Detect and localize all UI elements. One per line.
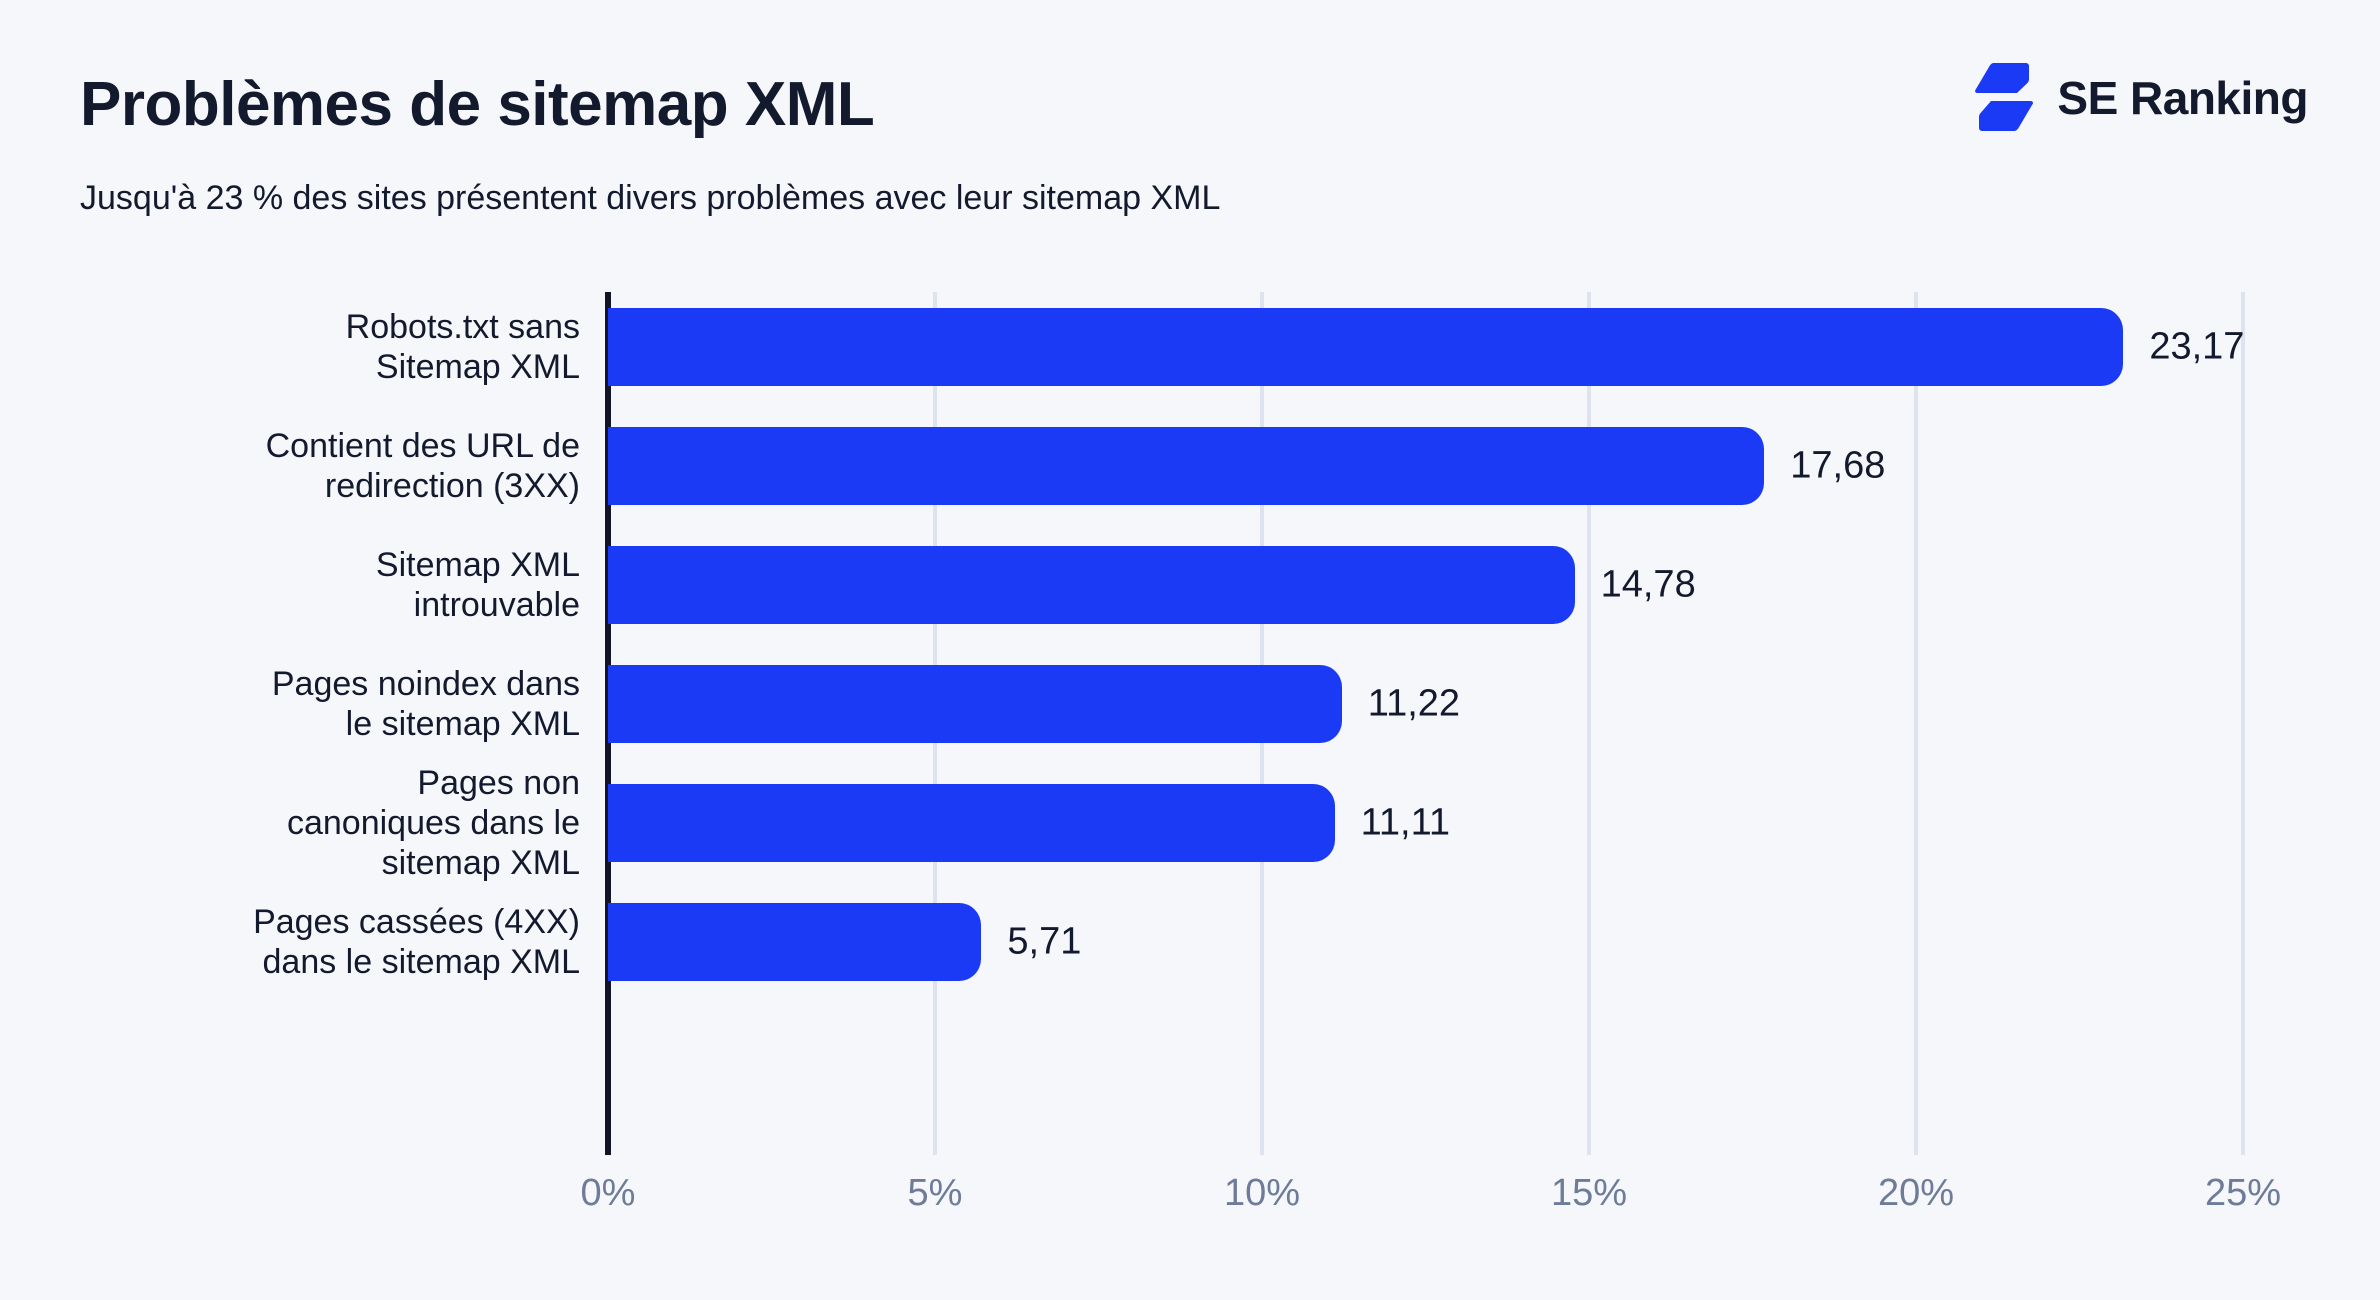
bar-value-label: 23,17 bbox=[2149, 326, 2244, 369]
x-tick-label: 10% bbox=[1224, 1172, 1300, 1215]
bar-row: 23,17 bbox=[608, 308, 2243, 386]
y-axis-category-label: Contient des URL de redirection (3XX) bbox=[20, 426, 580, 506]
x-axis-ticks: 0%5%10%15%20%25% bbox=[608, 1172, 2308, 1232]
y-axis-labels: Robots.txt sans Sitemap XMLContient des … bbox=[0, 292, 580, 1155]
bar-row: 17,68 bbox=[608, 427, 2243, 505]
bar[interactable] bbox=[608, 546, 1575, 624]
bar-value-label: 11,11 bbox=[1361, 802, 1450, 845]
x-tick-label: 20% bbox=[1878, 1172, 1954, 1215]
bar-row: 14,78 bbox=[608, 546, 2243, 624]
bar[interactable] bbox=[608, 665, 1342, 743]
bar-chart: Robots.txt sans Sitemap XMLContient des … bbox=[0, 0, 2380, 1300]
x-tick-label: 5% bbox=[908, 1172, 963, 1215]
bar-series: 23,1717,6814,7811,2211,115,71 bbox=[608, 292, 2243, 1155]
y-axis-category-label: Sitemap XML introuvable bbox=[20, 545, 580, 625]
x-tick-label: 25% bbox=[2205, 1172, 2281, 1215]
chart-page: Problèmes de sitemap XML Jusqu'à 23 % de… bbox=[0, 0, 2380, 1300]
y-axis-category-label: Pages cassées (4XX) dans le sitemap XML bbox=[20, 902, 580, 982]
y-axis-category-label: Pages non canoniques dans le sitemap XML bbox=[20, 763, 580, 883]
y-axis-category-label: Robots.txt sans Sitemap XML bbox=[20, 307, 580, 387]
bar-row: 11,11 bbox=[608, 784, 2243, 862]
bar[interactable] bbox=[608, 903, 981, 981]
bar[interactable] bbox=[608, 308, 2123, 386]
bar-value-label: 5,71 bbox=[1007, 921, 1081, 964]
bar-value-label: 14,78 bbox=[1601, 564, 1696, 607]
bar-value-label: 11,22 bbox=[1368, 683, 1460, 726]
x-tick-label: 15% bbox=[1551, 1172, 1627, 1215]
bar[interactable] bbox=[608, 427, 1764, 505]
bar-row: 5,71 bbox=[608, 903, 2243, 981]
y-axis-category-label: Pages noindex dans le sitemap XML bbox=[20, 664, 580, 744]
bar-value-label: 17,68 bbox=[1790, 445, 1885, 488]
x-tick-label: 0% bbox=[581, 1172, 636, 1215]
bar-row: 11,22 bbox=[608, 665, 2243, 743]
bar[interactable] bbox=[608, 784, 1335, 862]
